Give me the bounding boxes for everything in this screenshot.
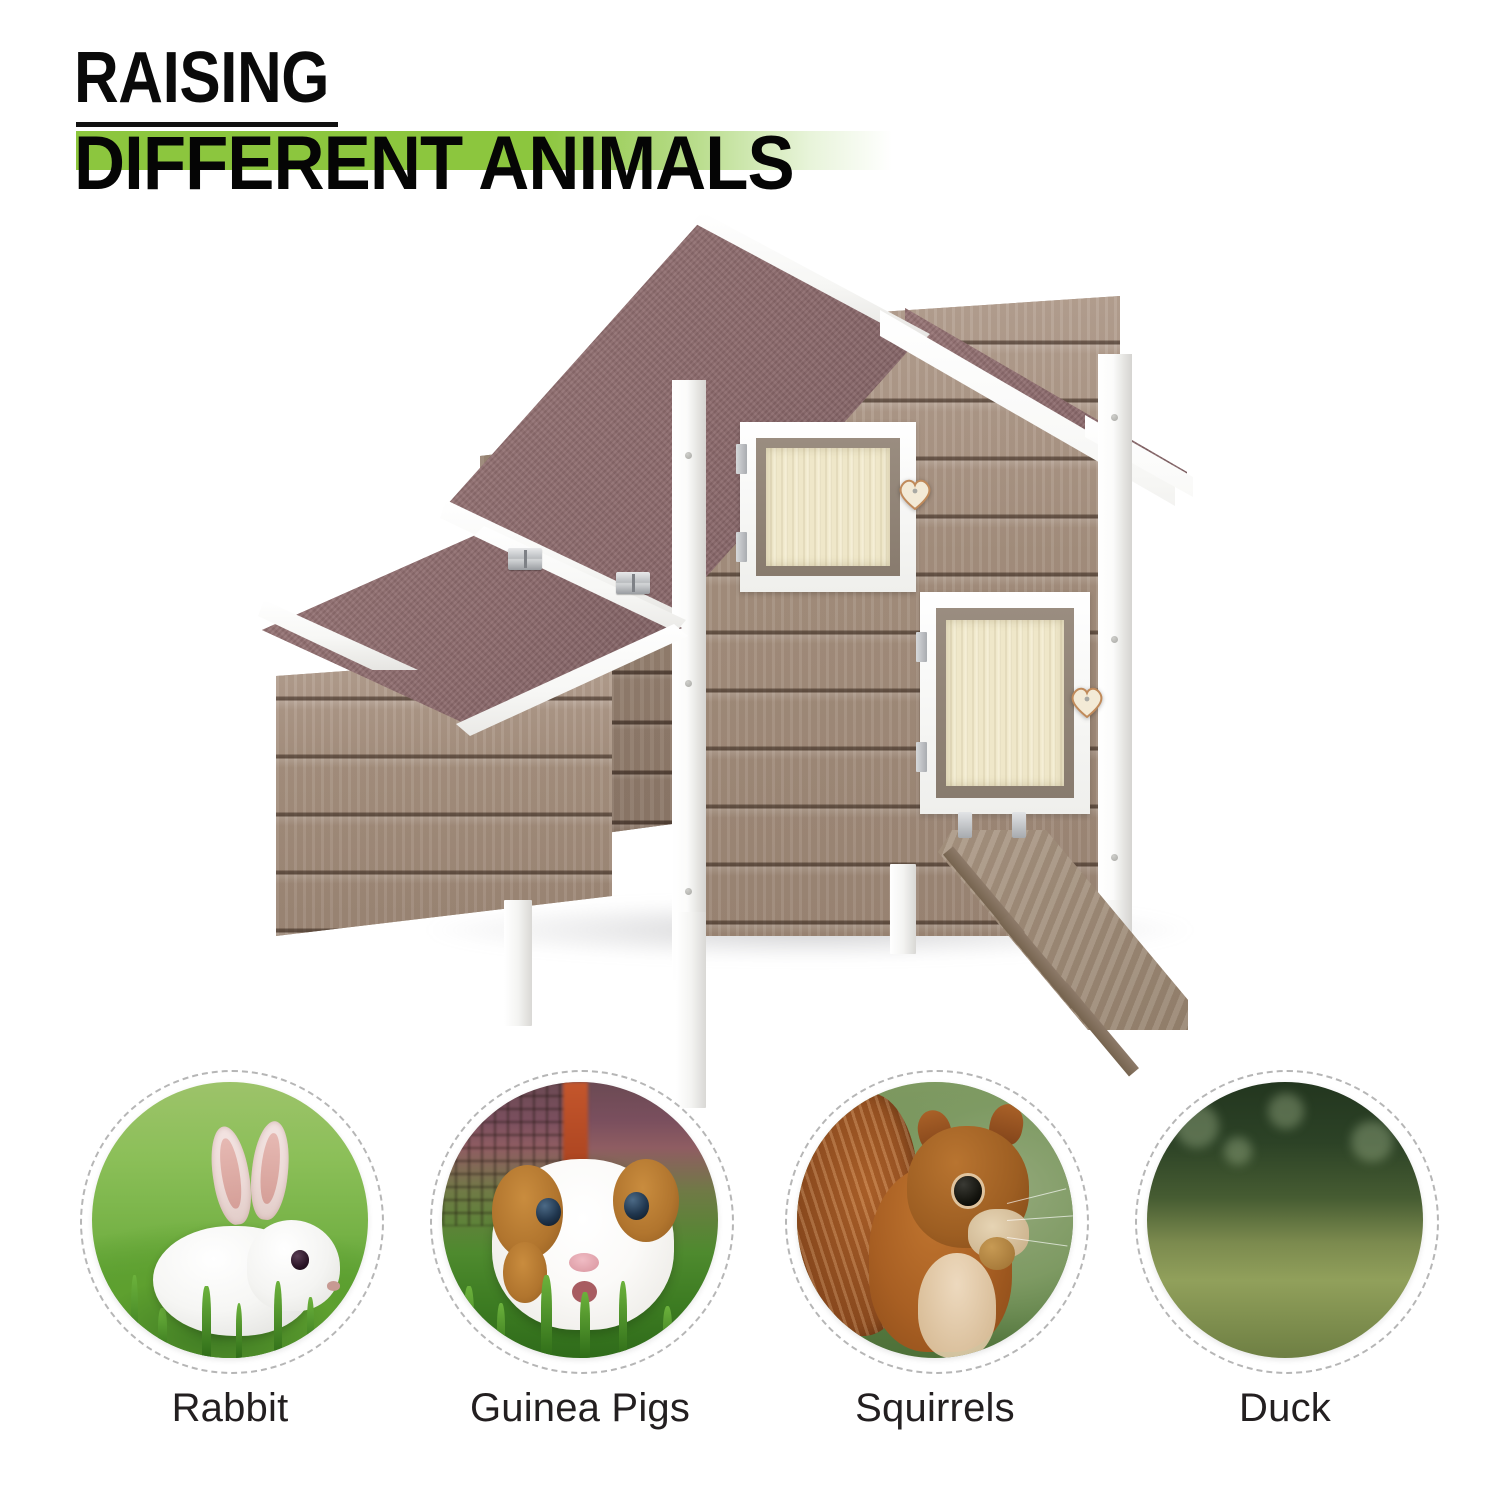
header-banner: RAISING DIFFERENT ANIMALS — [0, 0, 1500, 210]
lower-door-frame[interactable] — [920, 592, 1090, 814]
squirrel-photo — [797, 1082, 1073, 1358]
lower-door-hinge-bottom — [916, 742, 927, 772]
rabbit-photo — [92, 1082, 368, 1358]
product-image — [0, 200, 1500, 1060]
coop-leg-rear-right — [890, 864, 916, 954]
screw-head — [685, 680, 692, 687]
lower-door-glazing — [946, 620, 1064, 786]
animal-label: Duck — [1110, 1386, 1460, 1431]
nest-lid-hinge-right — [616, 572, 650, 594]
lower-door-heart-latch[interactable] — [1070, 686, 1104, 718]
lower-door-hinge-top — [916, 632, 927, 662]
upper-window-hinge-top — [736, 444, 747, 474]
page-title-primary: RAISING — [74, 42, 329, 114]
upper-window-glazing — [766, 448, 890, 566]
screw-head — [685, 888, 692, 895]
upper-window-heart-latch[interactable] — [898, 478, 932, 510]
nest-lid-hinge-left — [508, 548, 542, 570]
animal-label: Guinea Pigs — [405, 1386, 755, 1431]
upper-window-hinge-bottom — [736, 532, 747, 562]
coop-front-left-post — [672, 380, 706, 980]
page-title-secondary: DIFFERENT ANIMALS — [74, 126, 794, 202]
screw-head — [685, 452, 692, 459]
coop-leg-front-left — [504, 900, 532, 1026]
screw-head — [1111, 414, 1118, 421]
ramp-bracket-right — [1012, 812, 1026, 838]
animal-gallery: Rabbit Guinea — [0, 1062, 1500, 1500]
guinea-pig-photo — [442, 1082, 718, 1358]
duck-photo — [1147, 1082, 1423, 1358]
animal-label: Rabbit — [55, 1386, 405, 1431]
lower-door-inner-frame — [936, 608, 1074, 798]
animal-item-guinea-pigs[interactable]: Guinea Pigs — [405, 1062, 755, 1500]
coop-ramp — [938, 830, 1188, 1030]
screw-head — [1111, 636, 1118, 643]
upper-window-frame[interactable] — [740, 422, 916, 592]
animal-item-duck[interactable]: Duck — [1110, 1062, 1460, 1500]
ramp-bracket-left — [958, 812, 972, 838]
animal-item-squirrels[interactable]: Squirrels — [760, 1062, 1110, 1500]
upper-window-inner-frame — [756, 438, 900, 576]
animal-item-rabbit[interactable]: Rabbit — [55, 1062, 405, 1500]
animal-label: Squirrels — [760, 1386, 1110, 1431]
